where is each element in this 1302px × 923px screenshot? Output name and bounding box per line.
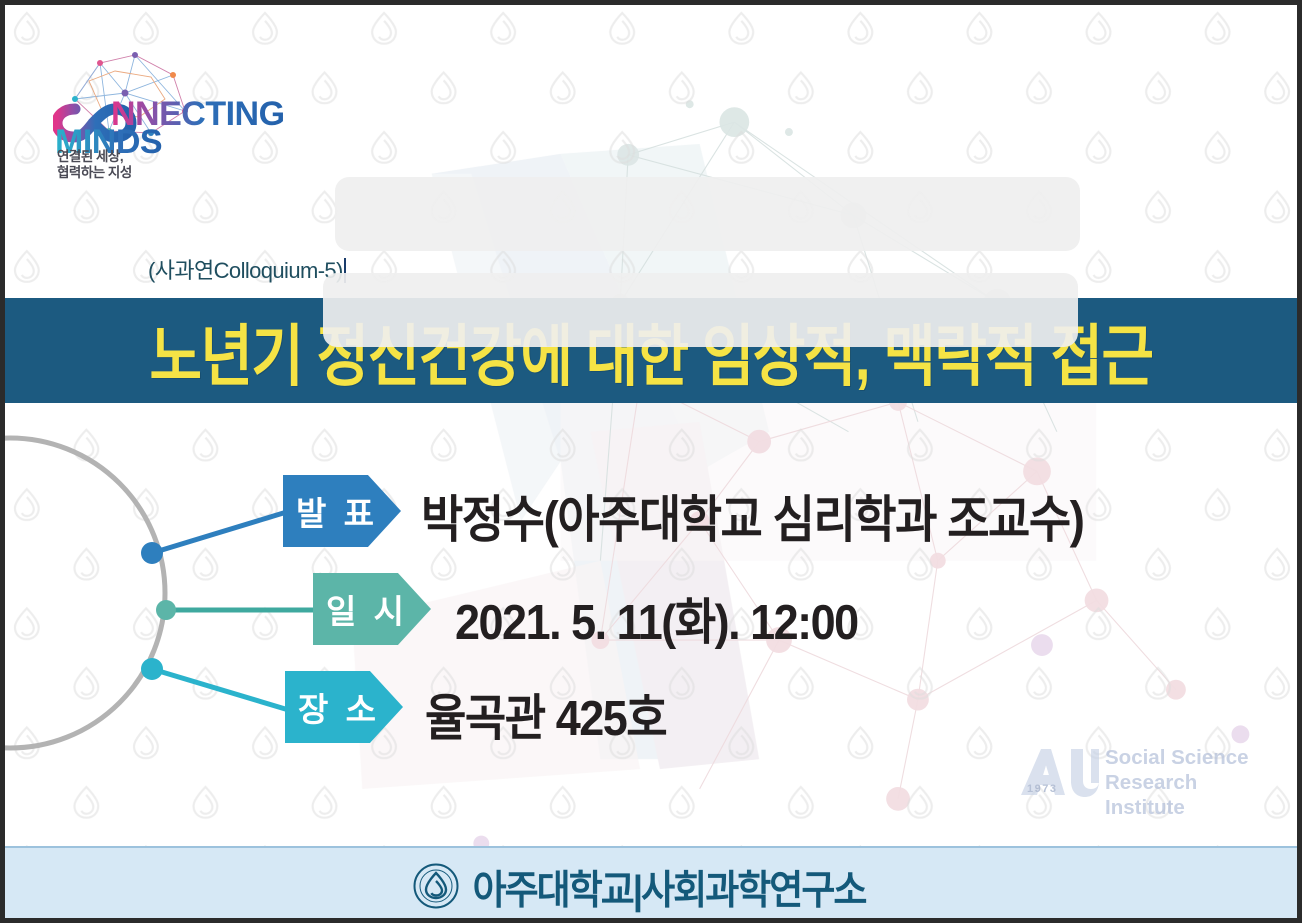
connector-line-place <box>152 669 292 711</box>
connector-line-presenter <box>152 511 290 553</box>
connector-node-place <box>141 658 163 680</box>
series-label: (사과연Colloquium-5) <box>148 253 346 285</box>
connector-circle <box>0 438 165 748</box>
logo-tagline: 연결된 세상, 협력하는 지성 <box>57 149 132 181</box>
footer-bar: 아주대학교|사회과학연구소 <box>0 846 1302 923</box>
ssri-name: Social Science Research Institute <box>1105 745 1267 820</box>
series-label-text: (사과연Colloquium-5) <box>148 258 343 283</box>
ssri-logo: 1973 Social Science Research Institute <box>1015 743 1267 805</box>
value-datetime: 2021. 5. 11(화). 12:00 <box>455 582 858 654</box>
footer-title: 아주대학교|사회과학연구소 <box>473 856 866 914</box>
footer-content: 아주대학교|사회과학연구소 <box>413 859 866 913</box>
value-presenter: 박정수(아주대학교 심리학과 조교수) <box>421 480 1084 553</box>
connector-node-datetime <box>156 600 176 620</box>
ajou-seal-icon <box>413 863 459 909</box>
poster-slide: NNECTING MINDS 연결된 세상, 협력하는 지성 (사과연Collo… <box>0 0 1302 923</box>
ssri-year: 1973 <box>1027 783 1057 795</box>
connecting-minds-logo: NNECTING MINDS 연결된 세상, 협력하는 지성 <box>47 41 317 181</box>
place-background-bar <box>323 273 1078 347</box>
connector-node-presenter <box>141 542 163 564</box>
datetime-background-bar <box>335 177 1080 251</box>
logo-wordmark: NNECTING MINDS <box>53 85 333 155</box>
value-place: 율곡관 425호 <box>425 678 666 750</box>
